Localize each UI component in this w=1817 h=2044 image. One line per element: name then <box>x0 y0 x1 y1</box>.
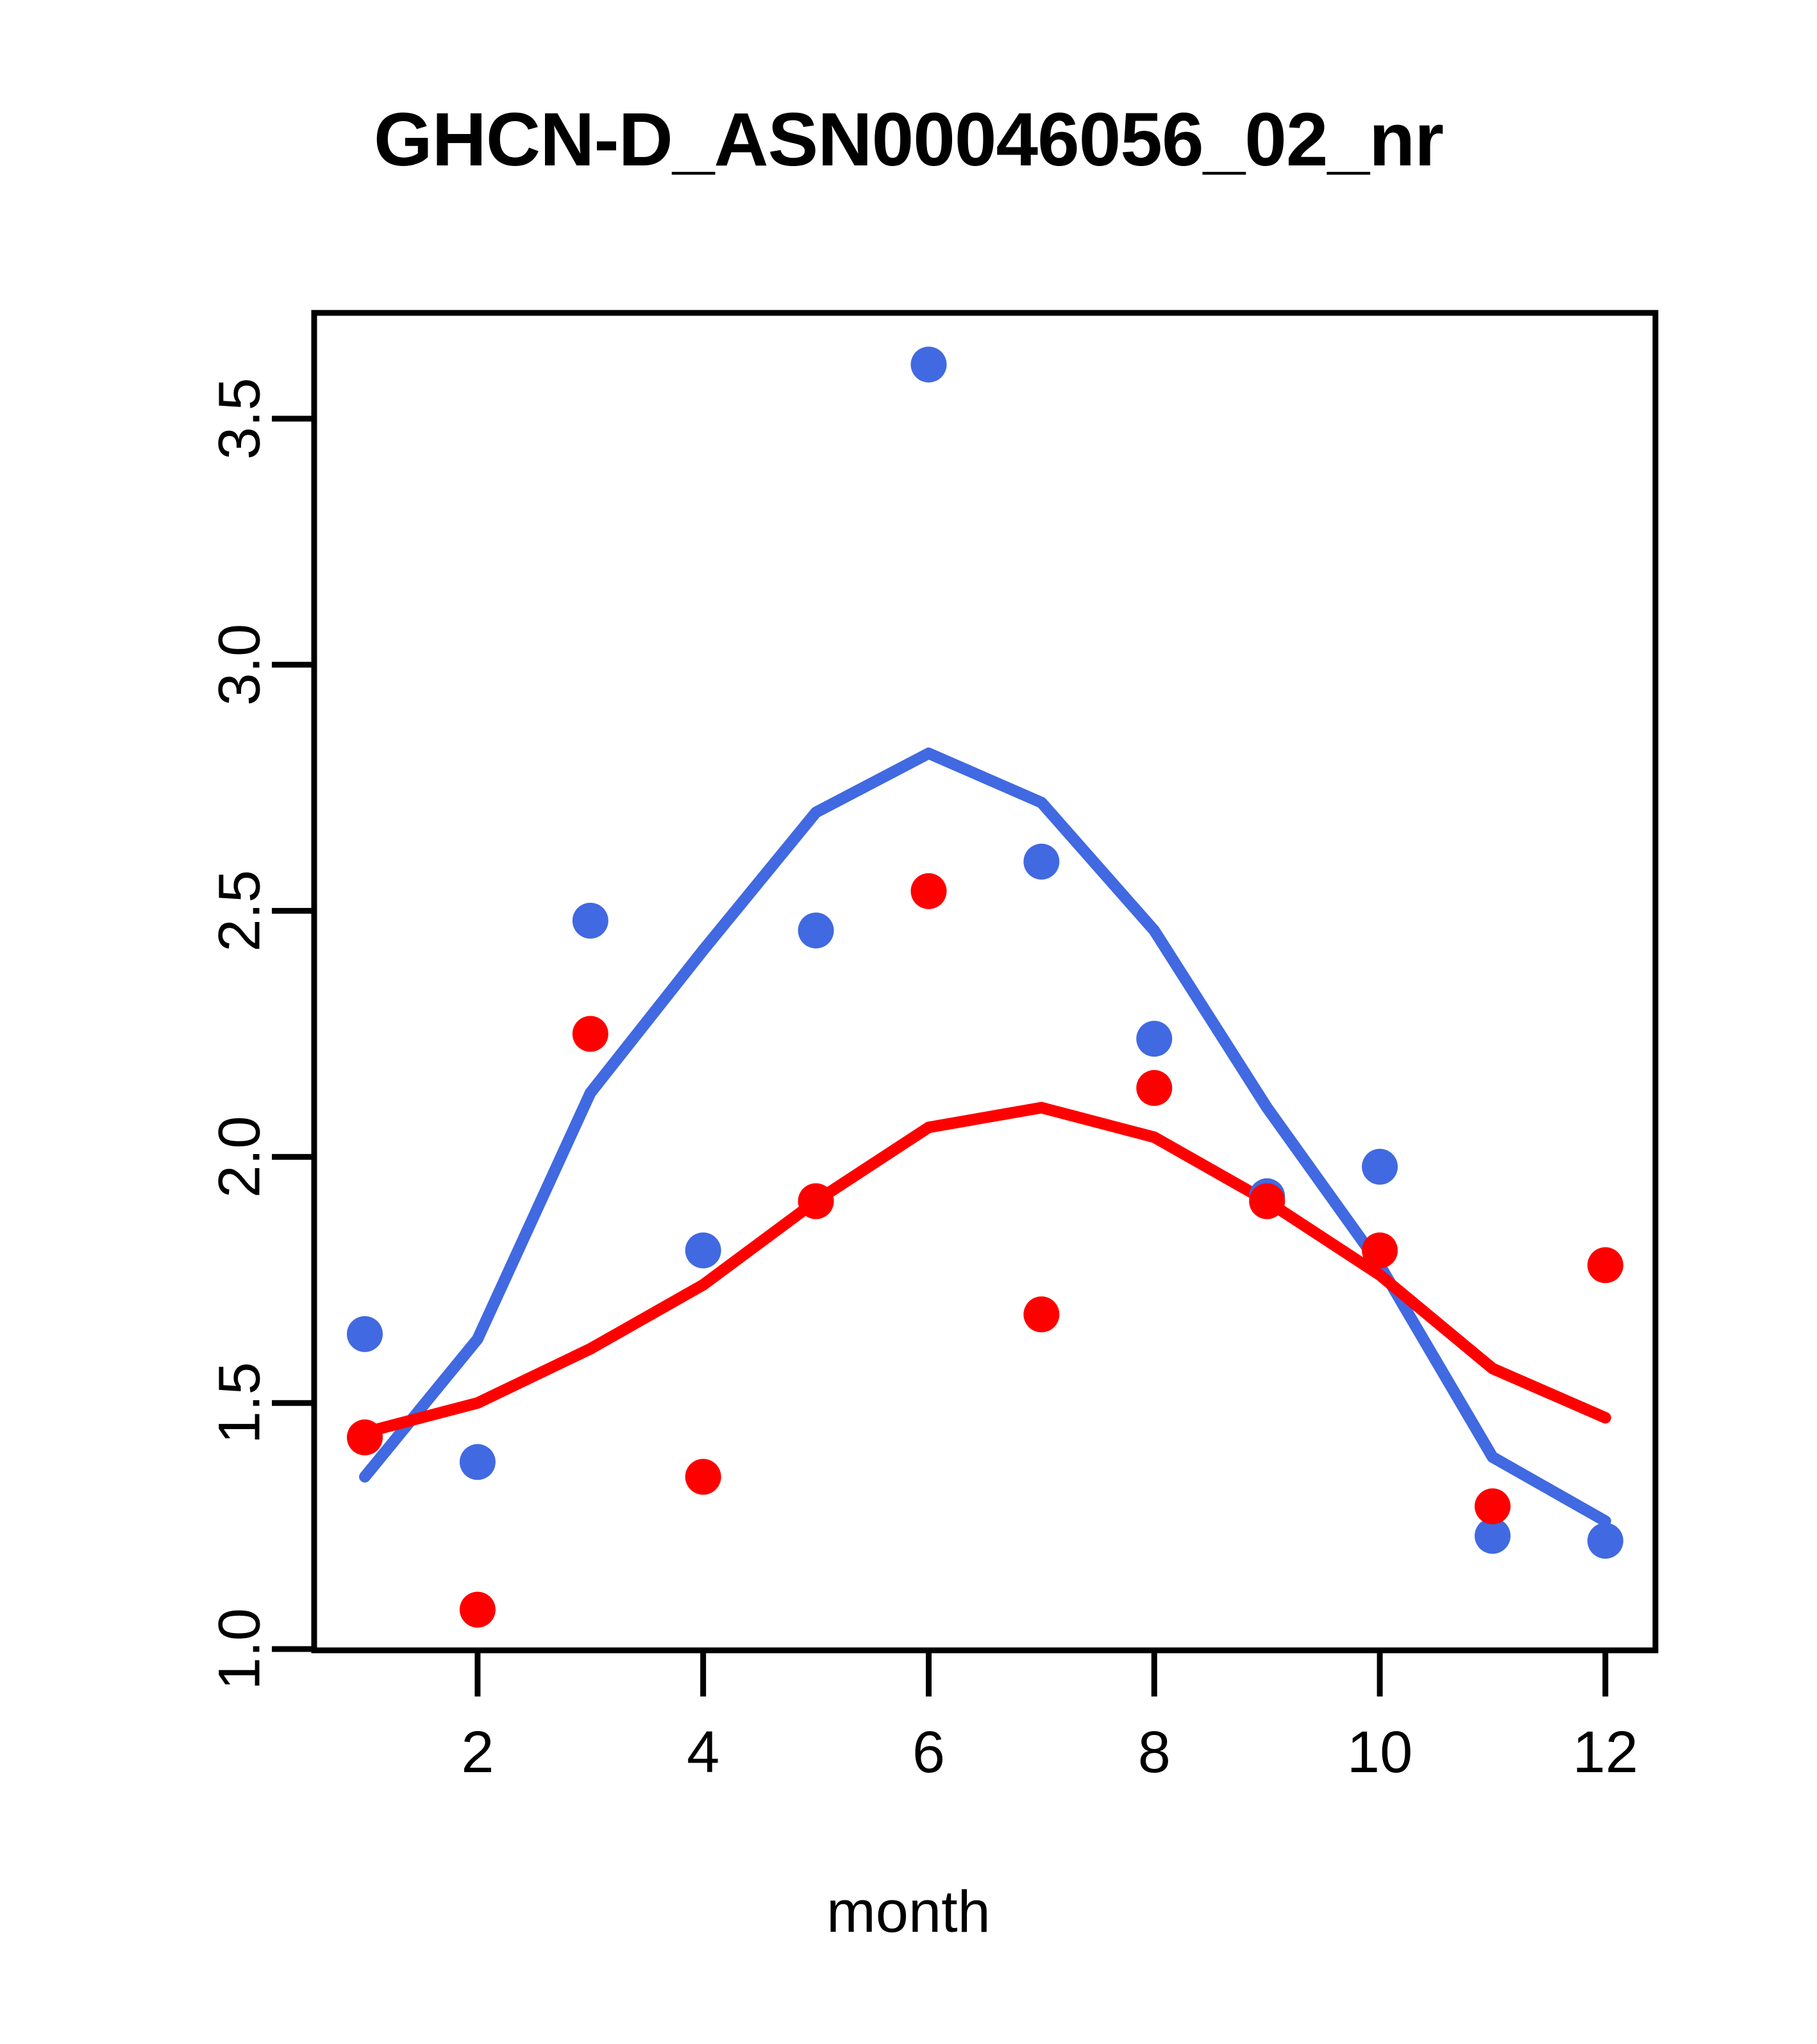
data-point-red-points <box>347 1420 383 1455</box>
data-point-red-points <box>1362 1232 1398 1268</box>
data-point-blue-points <box>911 347 947 383</box>
x-axis-tick-label: 2 <box>461 1720 494 1785</box>
data-point-blue-points <box>573 903 608 939</box>
data-point-blue-points <box>685 1232 721 1268</box>
data-point-red-points <box>1136 1070 1172 1106</box>
x-axis-tick-label: 10 <box>1347 1720 1412 1785</box>
data-point-red-points <box>1587 1247 1623 1283</box>
y-axis-tick-label: 3.5 <box>206 378 272 460</box>
data-point-blue-points <box>460 1444 496 1480</box>
y-axis-tick-label: 1.0 <box>206 1608 272 1690</box>
data-point-red-points <box>460 1592 496 1628</box>
tick-label-layer: 1.01.52.02.53.03.524681012 <box>206 378 1638 1785</box>
x-axis-tick-label: 12 <box>1573 1720 1638 1785</box>
y-axis-tick-label: 1.5 <box>206 1362 272 1444</box>
x-axis-tick-label: 4 <box>687 1720 719 1785</box>
data-point-red-points <box>1475 1488 1511 1524</box>
y-axis-tick-label: 3.0 <box>206 624 272 706</box>
y-axis-tick-label: 2.5 <box>206 870 272 952</box>
x-axis-tick-label: 8 <box>1138 1720 1171 1785</box>
series-layer <box>347 347 1623 1628</box>
data-point-blue-points <box>798 912 834 948</box>
axis-layer <box>272 313 1655 1696</box>
data-point-blue-points <box>1136 1021 1172 1057</box>
data-point-blue-points <box>347 1316 383 1352</box>
series-line-blue-line <box>365 753 1605 1521</box>
x-axis-label: month <box>0 1879 1817 1946</box>
data-point-red-points <box>911 873 947 909</box>
data-point-red-points <box>685 1459 721 1495</box>
data-point-red-points <box>573 1016 608 1052</box>
chart-page: GHCN-D_ASN00046056_02_nr 1.01.52.02.53.0… <box>0 0 1817 2044</box>
data-point-red-points <box>1249 1183 1285 1219</box>
plot-frame <box>314 313 1655 1650</box>
plot-canvas: 1.01.52.02.53.03.524681012 <box>0 0 1817 2044</box>
data-point-blue-points <box>1362 1149 1398 1185</box>
data-point-blue-points <box>1023 844 1059 880</box>
data-point-blue-points <box>1587 1523 1623 1559</box>
y-axis-tick-label: 2.0 <box>206 1116 272 1198</box>
x-axis-tick-label: 6 <box>912 1720 945 1785</box>
data-point-red-points <box>1023 1296 1059 1332</box>
data-point-red-points <box>798 1183 834 1219</box>
series-line-red-line <box>365 1108 1605 1433</box>
